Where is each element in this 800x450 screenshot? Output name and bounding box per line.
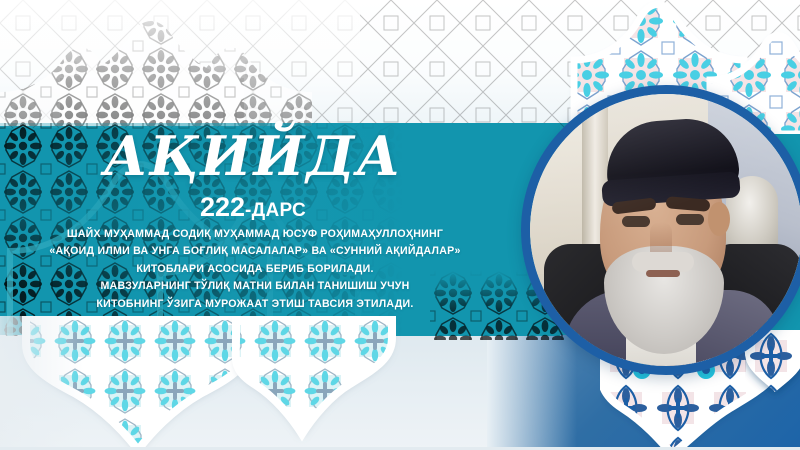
description-line-1: ШАЙХ МУҲАММАД СОДИҚ МУҲАММАД ЮСУФ РОҲИМА… bbox=[4, 226, 506, 243]
lesson-suffix: -ДАРС bbox=[245, 200, 306, 221]
description-line-3: КИТОБЛАРИ АСОСИДА БЕРИБ БОРИЛАДИ. bbox=[4, 261, 506, 278]
page-title: АҚИЙДА bbox=[0, 128, 506, 184]
poster-title-wrapper: АҚИЙДА bbox=[0, 128, 506, 184]
description-line-2: «АҚОИД ИЛМИ ВА УНГА БОҒЛИҚ МАСАЛАЛАР» ВА… bbox=[4, 243, 506, 260]
description-line-5: КИТОБНИНГ ЎЗИГА МУРОЖААТ ЭТИШ ТАВСИЯ ЭТИ… bbox=[4, 296, 506, 313]
portrait-photo bbox=[530, 94, 800, 366]
portrait-ring-border bbox=[521, 85, 800, 375]
lesson-number-line: 222-ДАРС bbox=[0, 192, 506, 223]
poster-canvas: АҚИЙДА 222-ДАРС ШАЙХ МУҲАММАД СОДИҚ МУҲА… bbox=[0, 0, 800, 450]
speaker-portrait bbox=[521, 85, 800, 375]
photo-sheen bbox=[530, 94, 800, 366]
description-block: ШАЙХ МУҲАММАД СОДИҚ МУҲАММАД ЮСУФ РОҲИМА… bbox=[4, 226, 506, 313]
description-line-4: МАВЗУЛАРНИНГ ТЎЛИҚ МАТНИ БИЛАН ТАНИШИШ У… bbox=[4, 278, 506, 295]
lesson-number: 222 bbox=[200, 192, 245, 222]
